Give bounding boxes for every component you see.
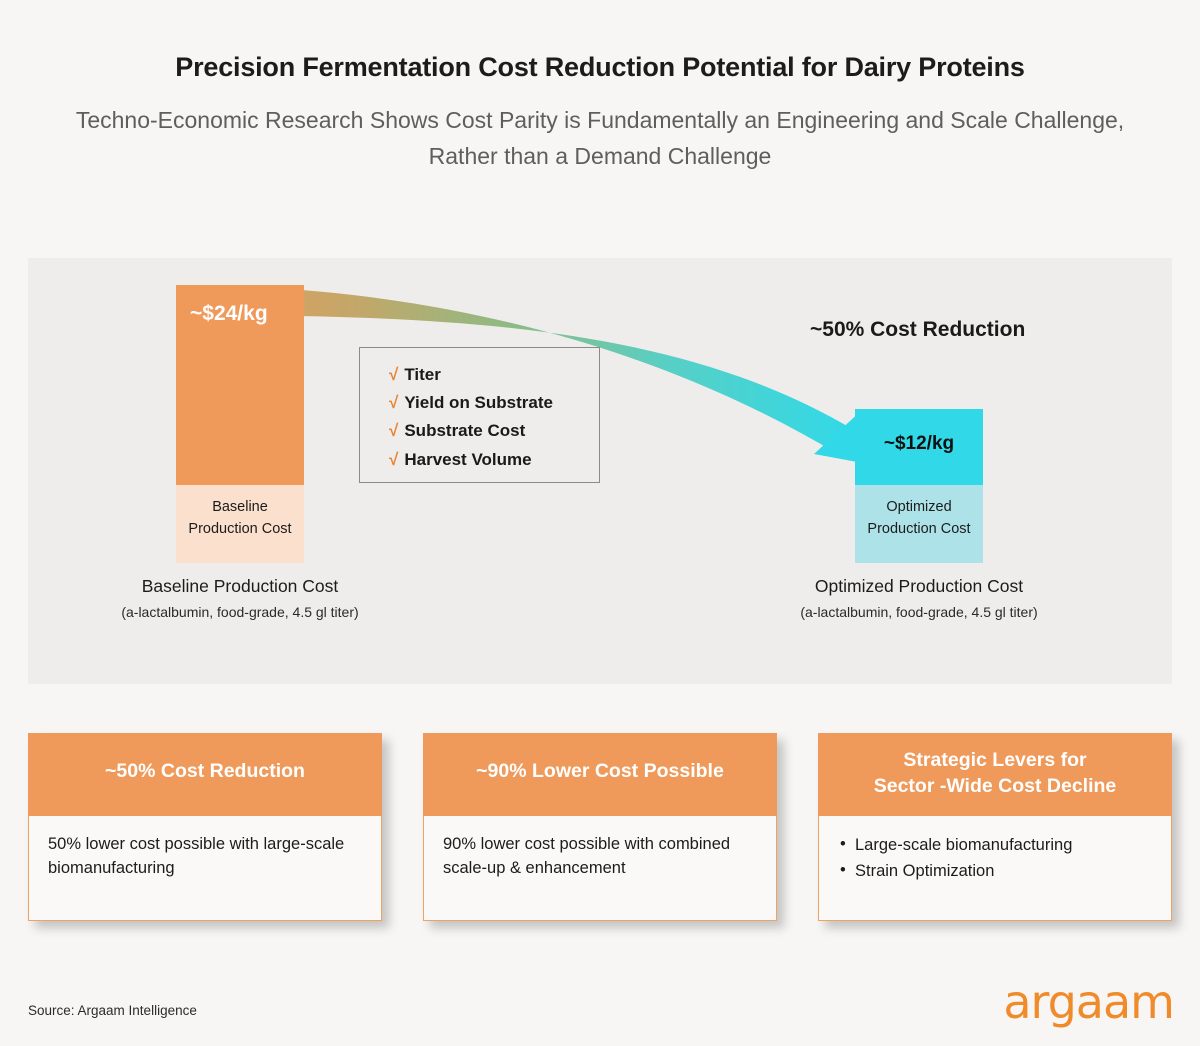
page-subtitle: Techno-Economic Research Shows Cost Pari…: [45, 83, 1155, 174]
source-note: Source: Argaam Intelligence: [28, 1003, 197, 1018]
driver-item: √Substrate Cost: [389, 417, 599, 445]
info-card-cost-reduction: ~50% Cost Reduction 50% lower cost possi…: [28, 733, 382, 921]
optimized-bar-inline-label-line2: Production Cost: [855, 518, 983, 540]
cost-drivers-box: √Titer √Yield on Substrate √Substrate Co…: [359, 347, 600, 483]
optimized-bar-inline-label-line1: Optimized: [855, 496, 983, 518]
optimized-caption: Optimized Production Cost (a-lactalbumin…: [699, 576, 1139, 620]
check-icon: √: [389, 365, 398, 384]
baseline-bar-inline-label: Baseline Production Cost: [176, 485, 304, 563]
driver-item: √Yield on Substrate: [389, 389, 599, 417]
info-card-strategic-levers: Strategic Levers for Sector -Wide Cost D…: [818, 733, 1172, 921]
baseline-bar-inline-label-line1: Baseline: [176, 496, 304, 518]
baseline-caption: Baseline Production Cost (a-lactalbumin,…: [20, 576, 460, 620]
driver-label: Yield on Substrate: [404, 393, 553, 412]
driver-label: Substrate Cost: [404, 421, 525, 440]
argaam-logo: argaam: [1003, 975, 1174, 1029]
info-card-body: 90% lower cost possible with combined sc…: [423, 816, 777, 921]
header: Precision Fermentation Cost Reduction Po…: [0, 0, 1200, 174]
info-card-header: Strategic Levers for Sector -Wide Cost D…: [818, 733, 1172, 816]
info-card-lower-cost: ~90% Lower Cost Possible 90% lower cost …: [423, 733, 777, 921]
driver-item: √Harvest Volume: [389, 446, 599, 474]
check-icon: √: [389, 450, 398, 469]
cost-reduction-annotation: ~50% Cost Reduction: [810, 318, 1025, 342]
chart-panel: ~50% Cost Reduction ~$24/kg Baseline Pro…: [28, 258, 1172, 684]
driver-item: √Titer: [389, 361, 599, 389]
info-card-header: ~50% Cost Reduction: [28, 733, 382, 816]
info-card-bullet-list: Large-scale biomanufacturing Strain Opti…: [838, 832, 1153, 884]
optimized-caption-main: Optimized Production Cost: [699, 576, 1139, 597]
info-card-body: Large-scale biomanufacturing Strain Opti…: [818, 816, 1172, 921]
optimized-bar-inline-label: Optimized Production Cost: [855, 485, 983, 563]
info-cards-row: ~50% Cost Reduction 50% lower cost possi…: [28, 733, 1172, 928]
check-icon: √: [389, 421, 398, 440]
driver-label: Harvest Volume: [404, 450, 531, 469]
list-item: Large-scale biomanufacturing: [855, 832, 1153, 858]
optimized-bar-value-label: ~$12/kg: [855, 409, 983, 485]
optimized-bar: ~$12/kg Optimized Production Cost: [855, 409, 983, 563]
info-card-header-line1: Strategic Levers for: [818, 748, 1172, 774]
baseline-caption-sub: (a-lactalbumin, food-grade, 4.5 gl titer…: [20, 604, 460, 620]
baseline-caption-main: Baseline Production Cost: [20, 576, 460, 597]
info-card-header-line2: Sector -Wide Cost Decline: [818, 774, 1172, 800]
baseline-bar-inline-label-line2: Production Cost: [176, 518, 304, 540]
check-icon: √: [389, 393, 398, 412]
baseline-bar: ~$24/kg Baseline Production Cost: [176, 285, 304, 563]
baseline-bar-value-label: ~$24/kg: [176, 285, 304, 485]
info-card-header: ~90% Lower Cost Possible: [423, 733, 777, 816]
optimized-caption-sub: (a-lactalbumin, food-grade, 4.5 gl titer…: [699, 604, 1139, 620]
list-item: Strain Optimization: [855, 858, 1153, 884]
driver-label: Titer: [404, 365, 441, 384]
page-title: Precision Fermentation Cost Reduction Po…: [0, 0, 1200, 83]
info-card-body: 50% lower cost possible with large-scale…: [28, 816, 382, 921]
